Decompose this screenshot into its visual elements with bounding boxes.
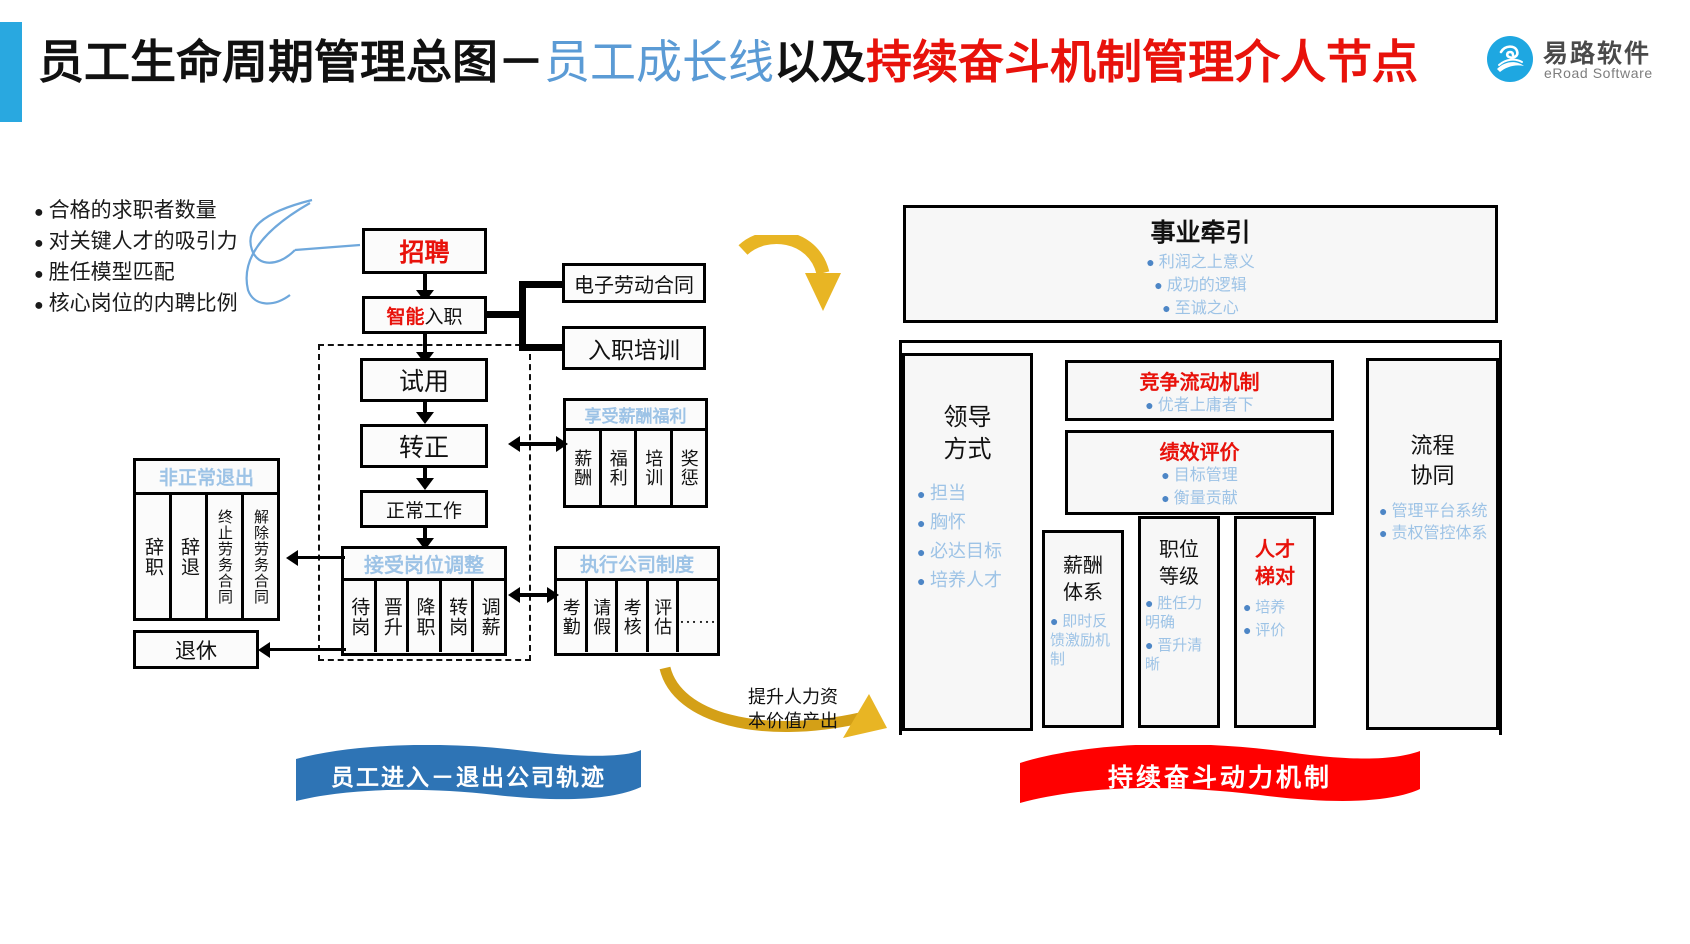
stage-onboard-label-rest: 入职	[425, 307, 463, 328]
execute-company-policy-group[interactable]: 执行公司制度 考勤 请假 考核 评估 ……	[554, 546, 720, 656]
stage-recruit-label: 招聘	[399, 233, 449, 269]
double-arrow-regular-benefits-left-head	[508, 436, 520, 452]
talent-ladder-title-line1: 人才	[1237, 537, 1313, 564]
onboard-branch-vertical	[519, 281, 526, 351]
exit-retire[interactable]: 退休	[133, 630, 259, 669]
value-output-arrow-label-line2: 本价值产出	[738, 709, 848, 733]
page-title-red-part: 持续奋斗机制管理介人节点	[866, 37, 1418, 88]
list-item: ● 晋升清晰	[1145, 637, 1217, 675]
top-yellow-curved-arrow-icon	[735, 235, 845, 325]
list-item: ● 培养人才	[917, 567, 1030, 596]
list-item: ● 优者上庸者下	[1068, 395, 1331, 418]
benefit-cell-compensation[interactable]: 薪酬	[566, 431, 602, 505]
onboard-branch-top	[526, 281, 562, 288]
adjust-cell-standby[interactable]: 待岗	[344, 581, 377, 652]
bullet-dot-icon: ●	[917, 546, 925, 561]
stage-onboarding-training[interactable]: 入职培训	[562, 326, 706, 370]
bullet-dot-icon: ●	[1146, 256, 1154, 271]
arrow-onboard-to-probation	[423, 334, 427, 354]
exit-retire-label: 退休	[175, 635, 217, 665]
bullet-dot-icon: ●	[1243, 624, 1251, 639]
benefit-cell-welfare[interactable]: 福利	[602, 431, 638, 505]
leadership-title-line1: 领导	[905, 402, 1030, 434]
performance-evaluation-box[interactable]: 绩效评价 ● 目标管理 ● 衡量贡献	[1065, 430, 1334, 515]
brand-logo: 易路软件 eRoad Software	[1487, 32, 1677, 94]
bullet-dot-icon: ●	[1379, 527, 1387, 542]
policy-title: 执行公司制度	[580, 550, 694, 577]
abnormal-exit-group[interactable]: 非正常退出 辞职 辞退 终止劳务合同 解除劳务合同	[133, 458, 280, 621]
bullet-dot-icon: ●	[1162, 302, 1170, 317]
competition-mobility-box[interactable]: 竞争流动机制 ● 优者上庸者下	[1065, 360, 1334, 421]
policy-cell-more[interactable]: ……	[679, 581, 717, 652]
left-trajectory-banner-label: 员工进入－退出公司轨迹	[296, 758, 641, 792]
position-grade-title-line1: 职位	[1141, 537, 1217, 564]
bullets-to-recruit-connector	[240, 195, 375, 315]
list-item: ● 衡量贡献	[1068, 488, 1331, 511]
salary-system-title-line1: 薪酬	[1045, 553, 1121, 580]
stage-normal-work[interactable]: 正常工作	[360, 490, 488, 528]
accept-adjust-title: 接受岗位调整	[364, 549, 484, 578]
double-arrow-adjust-policy	[518, 593, 550, 597]
list-item: ● 胜任力明确	[1145, 595, 1217, 633]
page-title: 员工生命周期管理总图－员工成长线以及持续奋斗机制管理介人节点	[38, 30, 1338, 96]
bullet-dot-icon: ●	[1145, 597, 1153, 612]
list-item: ● 必达目标	[917, 538, 1030, 567]
list-item: ● 至诚之心	[906, 298, 1495, 321]
policy-cell-leave[interactable]: 请假	[588, 581, 619, 652]
stage-onboard-label-red: 智能	[386, 307, 424, 328]
arrow-regular-to-normalwork-head	[416, 478, 434, 490]
page-title-mid: 以及	[774, 37, 866, 88]
salary-system-box[interactable]: 薪酬 体系 ● 即时反馈激励机制	[1042, 530, 1124, 728]
policy-cell-attendance[interactable]: 考勤	[557, 581, 588, 652]
list-item: ● 管理平台系统	[1379, 501, 1496, 523]
double-arrow-regular-benefits	[519, 442, 559, 446]
abnormal-exit-title: 非正常退出	[159, 463, 254, 490]
leadership-title-line2: 方式	[905, 434, 1030, 466]
policy-cell-assessment[interactable]: 考核	[618, 581, 649, 652]
list-item: ● 评价	[1243, 620, 1313, 643]
exit-cell-resign[interactable]: 辞职	[136, 495, 172, 618]
adjust-cell-demotion[interactable]: 降职	[409, 581, 442, 652]
bullet-dot-icon: ●	[917, 488, 925, 503]
list-item: ● 成功的逻辑	[906, 275, 1495, 298]
leadership-style-box[interactable]: 领导 方式 ● 担当 ● 胸怀 ● 必达目标 ● 培养人才	[902, 353, 1033, 731]
bullet-dot-icon: ●	[34, 297, 44, 314]
value-output-arrow-label: 提升人力资 本价值产出	[738, 685, 848, 733]
career-traction-title: 事业牵引	[906, 213, 1495, 249]
list-item: ● 责权管控体系	[1379, 523, 1496, 545]
list-item: ● 担当	[917, 480, 1030, 509]
list-item: ● 目标管理	[1068, 465, 1331, 488]
stage-onboarding-training-label: 入职培训	[588, 331, 680, 365]
onboard-branch-bottom	[526, 344, 562, 351]
bullet-dot-icon: ●	[917, 575, 925, 590]
process-collaboration-box[interactable]: 流程 协同 ● 管理平台系统 ● 责权管控体系	[1366, 358, 1499, 730]
bullet-dot-icon: ●	[1243, 601, 1251, 616]
bullet-dot-icon: ●	[1161, 469, 1169, 484]
talent-ladder-box[interactable]: 人才 梯对 ● 培养 ● 评价	[1234, 516, 1316, 728]
exit-cell-cancel-contract[interactable]: 解除劳务合同	[244, 495, 277, 618]
stage-normal-work-label: 正常工作	[386, 496, 462, 523]
double-arrow-adjust-policy-right-head	[547, 587, 559, 603]
position-grade-box[interactable]: 职位 等级 ● 胜任力明确 ● 晋升清晰	[1138, 516, 1220, 728]
bullet-dot-icon: ●	[1154, 279, 1162, 294]
position-grade-title-line2: 等级	[1141, 564, 1217, 591]
career-traction-box[interactable]: 事业牵引 ● 利润之上意义 ● 成功的逻辑 ● 至诚之心	[903, 205, 1498, 323]
stage-electronic-contract-label: 电子劳动合同	[574, 269, 694, 298]
stage-smart-onboarding[interactable]: 智能入职	[362, 296, 487, 334]
arrow-adjust-to-abnormal-exit	[297, 556, 345, 559]
bullet-dot-icon: ●	[34, 235, 44, 252]
bullet-dot-icon: ●	[917, 517, 925, 532]
adjust-cell-transfer[interactable]: 转岗	[442, 581, 475, 652]
stage-recruit[interactable]: 招聘	[362, 228, 487, 274]
adjust-cell-salary-change[interactable]: 调薪	[474, 581, 504, 652]
double-arrow-adjust-policy-left-head	[508, 587, 520, 603]
bullet-dot-icon: ●	[1145, 399, 1153, 414]
benefits-title: 享受薪酬福利	[585, 402, 687, 427]
policy-cell-evaluation[interactable]: 评估	[649, 581, 680, 652]
stage-probation-label: 试用	[399, 362, 449, 398]
list-item: ● 即时反馈激励机制	[1050, 613, 1121, 670]
benefit-cell-reward-penalty[interactable]: 奖惩	[673, 431, 706, 505]
process-collab-title-line1: 流程	[1369, 431, 1496, 461]
page-title-main: 员工生命周期管理总图	[38, 37, 498, 88]
arrow-probation-to-regular-head	[416, 412, 434, 424]
double-arrow-regular-benefits-right-head	[556, 436, 568, 452]
value-output-arrow-label-line1: 提升人力资	[738, 685, 848, 709]
talent-ladder-title-line2: 梯对	[1237, 564, 1313, 591]
exit-cell-dismissal[interactable]: 辞退	[172, 495, 208, 618]
logo-text-en: eRoad Software	[1544, 65, 1653, 81]
stage-accept-position-adjustment[interactable]: 接受岗位调整 待岗 晋升 降职 转岗 调薪	[341, 546, 507, 656]
stage-become-regular[interactable]: 转正	[360, 424, 488, 468]
arrow-adjust-to-abnormal-exit-head	[286, 550, 298, 566]
eroad-logo-icon	[1487, 36, 1533, 82]
process-collab-title-line2: 协同	[1369, 461, 1496, 491]
stage-electronic-contract[interactable]: 电子劳动合同	[562, 263, 706, 303]
bullet-dot-icon: ●	[34, 204, 44, 221]
list-item: ● 培养	[1243, 597, 1313, 620]
onboard-branch-stem	[487, 311, 519, 318]
list-item: ● 利润之上意义	[906, 252, 1495, 275]
header-accent-bar	[0, 22, 22, 122]
arrow-adjust-to-retire	[268, 648, 346, 651]
bullet-dot-icon: ●	[1379, 505, 1387, 520]
performance-title: 绩效评价	[1068, 436, 1331, 465]
right-motivation-banner-label: 持续奋斗动力机制	[1020, 758, 1420, 794]
bullet-dot-icon: ●	[1145, 639, 1153, 654]
bullet-dot-icon: ●	[1050, 615, 1058, 630]
page-title-blue-part: 员工成长线	[544, 37, 774, 88]
list-item: ● 胸怀	[917, 509, 1030, 538]
enjoy-compensation-benefits-group[interactable]: 享受薪酬福利 薪酬 福利 培训 奖惩	[563, 398, 708, 508]
stage-probation[interactable]: 试用	[360, 358, 488, 402]
page-title-dash: －	[498, 37, 544, 88]
bullet-dot-icon: ●	[1161, 492, 1169, 507]
stage-become-regular-label: 转正	[399, 428, 449, 464]
arrow-adjust-to-retire-head	[258, 642, 270, 658]
competition-title: 竞争流动机制	[1068, 366, 1331, 395]
exit-cell-terminate-contract[interactable]: 终止劳务合同	[208, 495, 244, 618]
adjust-cell-promotion[interactable]: 晋升	[377, 581, 410, 652]
salary-system-title-line2: 体系	[1045, 580, 1121, 607]
benefit-cell-training[interactable]: 培训	[637, 431, 673, 505]
bullet-dot-icon: ●	[34, 266, 44, 283]
